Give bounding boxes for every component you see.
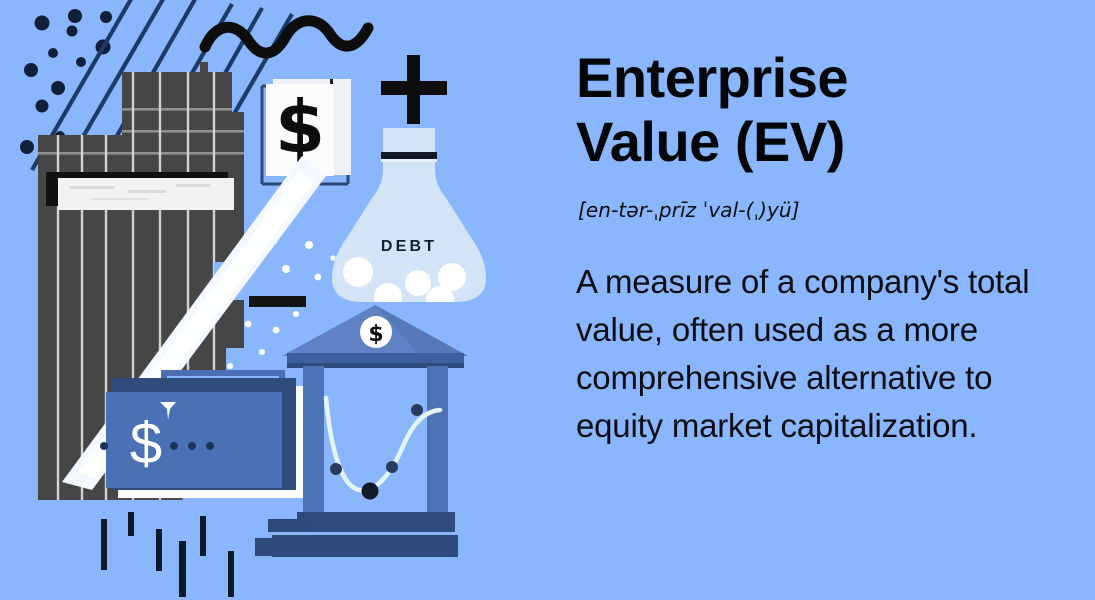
plus-horizontal-bar xyxy=(381,81,447,95)
tower-sign-texture xyxy=(92,198,148,200)
navy-block xyxy=(255,538,311,556)
term-card: $ xyxy=(0,0,1095,600)
navy-dot xyxy=(35,16,50,31)
navy-dot xyxy=(68,9,82,23)
ticker-dot xyxy=(170,442,178,450)
navy-dot xyxy=(100,11,112,23)
bank-column xyxy=(303,366,324,515)
ticker-dot xyxy=(206,442,214,450)
sparkle-dot xyxy=(259,349,265,355)
sparkle-dot xyxy=(330,255,335,260)
tower-band xyxy=(30,152,260,155)
definition-text: A measure of a company's total value, of… xyxy=(576,258,1044,450)
tower-sign-texture xyxy=(70,186,114,189)
page-title: Enterprise Value (EV) xyxy=(576,46,1046,174)
ticker-dot xyxy=(188,442,196,450)
ticker-dot xyxy=(100,442,108,450)
sparkle-dot xyxy=(273,327,280,334)
bank-base-upper xyxy=(297,512,455,532)
tick-mark xyxy=(101,519,107,570)
bank-coin-symbol: $ xyxy=(368,322,383,347)
chart-marker xyxy=(386,461,398,473)
tick-mark xyxy=(179,541,186,597)
navy-block xyxy=(268,519,310,532)
ticker-dollar-symbol: $ xyxy=(130,411,162,476)
sparkle-dot xyxy=(305,241,313,249)
chart-marker xyxy=(362,483,379,500)
flask-debt-label: DEBT xyxy=(381,238,437,255)
sparkle-dot xyxy=(282,265,290,273)
definition-panel: Enterprise Value (EV) [en-tər-ˌprīz ˈval… xyxy=(576,0,1076,600)
flask-neck-band xyxy=(381,152,437,159)
navy-dot xyxy=(24,63,38,77)
pronunciation: [en-tər-ˌprīz ˈval-(ˌ)yü] xyxy=(578,197,800,223)
tower-sign-texture xyxy=(128,190,166,193)
sparkle-dot xyxy=(245,321,252,328)
chart-marker xyxy=(330,463,342,475)
tick-mark xyxy=(128,512,134,536)
minus-operator xyxy=(249,296,306,307)
tick-mark xyxy=(156,529,162,571)
illustration-panel: $ xyxy=(0,0,560,600)
navy-dot xyxy=(76,57,86,67)
flask-neck-band-light xyxy=(381,159,437,162)
navy-dot xyxy=(51,81,65,95)
tower-sign-texture xyxy=(176,184,210,187)
chart-marker xyxy=(411,404,423,416)
navy-dot xyxy=(20,140,34,154)
navy-dot xyxy=(48,48,58,58)
navy-dot xyxy=(67,26,78,37)
flask-bubble xyxy=(343,257,373,287)
navy-dot xyxy=(36,100,49,113)
tower-sign-band xyxy=(58,178,234,210)
sparkle-dot xyxy=(293,311,299,317)
document-dollar-symbol: $ xyxy=(275,85,325,169)
sparkle-dot xyxy=(227,363,233,369)
bank-column xyxy=(427,366,448,515)
stock-ticker-panel: $ xyxy=(100,370,306,498)
tick-mark xyxy=(200,516,206,556)
flask-bubble xyxy=(405,270,431,296)
ticker-dots xyxy=(170,442,214,450)
sparkle-dot xyxy=(315,274,322,281)
tick-mark xyxy=(228,551,234,597)
